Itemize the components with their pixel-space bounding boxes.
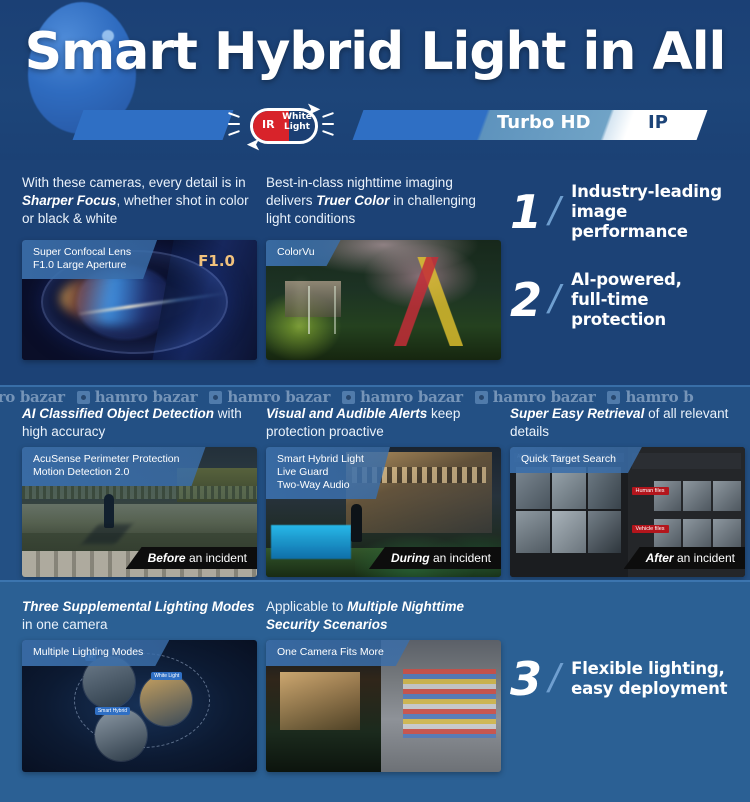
card-frame: Super Confocal Lens F1.0 Large Aperture …	[22, 240, 257, 360]
card-live-guard[interactable]: Smart Hybrid Light Live Guard Two-Way Au…	[266, 447, 498, 577]
point-label: Industry-leading image performance	[571, 182, 738, 242]
point-number: 3	[510, 658, 542, 700]
blurb-text: AI Classified Object Detection with high…	[22, 405, 257, 441]
mode-bubble-smart	[95, 709, 147, 761]
card-frame: IR White Light Smart Hybrid Multiple Lig…	[22, 640, 257, 772]
nvr-thumb	[588, 467, 622, 509]
badge-core: IR White Light	[250, 108, 318, 144]
caption-line-2: Live Guard	[277, 466, 364, 479]
card-super-confocal-lens[interactable]: Super Confocal Lens F1.0 Large Aperture …	[22, 240, 257, 360]
caption-line-1: ColorVu	[277, 246, 315, 259]
point-number: 2	[510, 279, 542, 321]
blurb-truer-color: Best-in-class nighttime imaging delivers…	[266, 174, 498, 228]
incident-stage-tag: Before an incident	[126, 547, 257, 569]
blurb-retrieval: Super Easy Retrieval of all relevant det…	[510, 405, 738, 441]
nvr-thumb	[588, 511, 622, 553]
blurb-lighting-modes: Three Supplemental Lighting Modes in one…	[22, 598, 257, 634]
card-frame: ColorVu	[266, 240, 501, 360]
card-frame: AcuSense Perimeter Protection Motion Det…	[22, 447, 257, 577]
caption-line-1: One Camera Fits More	[277, 646, 384, 659]
vehicle-results-strip	[654, 519, 742, 549]
tag-text: an incident	[674, 551, 735, 565]
point-label: AI-powered, full-time protection	[571, 270, 738, 330]
blurb-emphasis: Truer Color	[316, 193, 389, 208]
caption-line-1: AcuSense Perimeter Protection	[33, 453, 180, 466]
card-caption: One Camera Fits More	[266, 640, 410, 666]
section-flexible-lighting: Three Supplemental Lighting Modes in one…	[0, 580, 750, 802]
blurb-ai-detection: AI Classified Object Detection with high…	[22, 405, 257, 441]
blurb-emphasis: AI Classified Object Detection	[22, 406, 214, 421]
blurb-text: Super Easy Retrieval of all relevant det…	[510, 405, 738, 441]
blurb-emphasis: Super Easy Retrieval	[510, 406, 644, 421]
caption-line-2: Motion Detection 2.0	[33, 466, 180, 479]
point-row: 3 / Flexible lighting, easy deployment	[510, 658, 738, 700]
incident-stage-tag: After an incident	[624, 547, 745, 569]
caption-line-1: Smart Hybrid Light	[277, 453, 364, 466]
nvr-thumb	[516, 511, 550, 553]
caption-line-1: Multiple Lighting Modes	[33, 646, 143, 659]
tag-text: an incident	[430, 551, 491, 565]
tag-emphasis: After	[646, 551, 674, 565]
nvr-thumb	[552, 511, 586, 553]
blurb-part-1: Applicable to	[266, 599, 347, 614]
card-caption: Quick Target Search	[510, 447, 642, 473]
card-colorvu[interactable]: ColorVu	[266, 240, 498, 360]
point-1: 1 / Industry-leading image performance	[510, 182, 738, 242]
point-label-line-1: Flexible lighting,	[571, 659, 724, 678]
point-label-line-2: full-time protection	[571, 290, 666, 329]
divider	[0, 580, 750, 582]
blurb-text: Best-in-class nighttime imaging delivers…	[266, 174, 498, 228]
ir-white-light-badge: ➤ ➤ IR White Light	[228, 98, 340, 154]
blurb-text: Applicable to Multiple Nighttime Securit…	[266, 598, 498, 634]
blurb-emphasis: Visual and Audible Alerts	[266, 406, 427, 421]
mode-bubble-white	[140, 674, 192, 726]
page-title: Smart Hybrid Light in All	[0, 22, 750, 82]
caption-line-1: Quick Target Search	[521, 453, 616, 466]
hero-ribbon	[0, 107, 750, 145]
chip-smart-hybrid: Smart Hybrid	[95, 707, 130, 715]
filter-vehicle-tag: Vehicle files	[632, 525, 669, 533]
caption-line-3: Two-Way Audio	[277, 479, 364, 492]
card-quick-target-search[interactable]: All files mixed together Human files	[510, 447, 738, 577]
card-one-camera-fits-more[interactable]: One Camera Fits More	[266, 640, 498, 772]
slash-divider-icon: /	[545, 659, 565, 699]
point-label-line-1: AI-powered,	[571, 270, 682, 289]
card-acusense[interactable]: AcuSense Perimeter Protection Motion Det…	[22, 447, 257, 577]
card-multiple-lighting-modes[interactable]: IR White Light Smart Hybrid Multiple Lig…	[22, 640, 257, 772]
f-stop-overlay: F1.0	[198, 252, 235, 270]
nvr-toolbar	[632, 453, 742, 469]
section-ai-protection: AI Classified Object Detection with high…	[0, 385, 750, 580]
caption-line-1: Super Confocal Lens	[33, 246, 131, 259]
badge-turbo-hd: Turbo HD	[497, 112, 591, 133]
blurb-emphasis: Three Supplemental Lighting Modes	[22, 599, 255, 614]
blurb-text: Visual and Audible Alerts keep protectio…	[266, 405, 498, 441]
badge-ip: IP	[648, 112, 668, 133]
blurb-scenarios: Applicable to Multiple Nighttime Securit…	[266, 598, 498, 634]
card-caption: Multiple Lighting Modes	[22, 640, 169, 666]
chip-white-light: White Light	[151, 672, 182, 680]
incident-stage-tag: During an incident	[369, 547, 501, 569]
hero-banner: Smart Hybrid Light in All Turbo HD IP ➤ …	[0, 0, 750, 160]
blurb-emphasis: Sharper Focus	[22, 193, 117, 208]
card-caption: Super Confocal Lens F1.0 Large Aperture	[22, 240, 157, 279]
divider	[0, 385, 750, 387]
light-rays-right-icon	[322, 112, 340, 140]
blurb-part-1: With these cameras, every detail is in	[22, 175, 246, 190]
point-label-line-1: Industry-leading	[571, 182, 722, 201]
slash-divider-icon: /	[545, 192, 565, 232]
ir-label: IR	[262, 118, 275, 131]
point-3: 3 / Flexible lighting, easy deployment	[510, 658, 738, 700]
blurb-part-1: in one camera	[22, 617, 108, 632]
nvr-thumb	[516, 467, 550, 509]
white-light-label: White Light	[281, 112, 313, 132]
filter-human-tag: Human files	[632, 487, 669, 495]
tag-emphasis: During	[391, 551, 430, 565]
blurb-sharper-focus: With these cameras, every detail is in S…	[22, 174, 257, 228]
card-caption: AcuSense Perimeter Protection Motion Det…	[22, 447, 206, 486]
nvr-thumbnail-grid	[516, 467, 622, 553]
blurb-text: With these cameras, every detail is in S…	[22, 174, 257, 228]
point-number: 1	[510, 191, 542, 233]
infographic-page: Smart Hybrid Light in All Turbo HD IP ➤ …	[0, 0, 750, 802]
point-label-line-2: image performance	[571, 202, 688, 241]
card-caption: Smart Hybrid Light Live Guard Two-Way Au…	[266, 447, 390, 499]
card-frame: Smart Hybrid Light Live Guard Two-Way Au…	[266, 447, 501, 577]
slash-divider-icon: /	[545, 280, 565, 320]
tag-text: an incident	[186, 551, 247, 565]
white-label: White	[281, 112, 313, 122]
card-frame: All files mixed together Human files	[510, 447, 745, 577]
light-label: Light	[281, 122, 313, 132]
light-rays-left-icon	[228, 112, 246, 140]
ribbon-left-shape	[73, 110, 234, 140]
section-image-performance: With these cameras, every detail is in S…	[0, 160, 750, 385]
blurb-alerts: Visual and Audible Alerts keep protectio…	[266, 405, 498, 441]
blurb-text: Three Supplemental Lighting Modes in one…	[22, 598, 257, 634]
point-label-line-2: easy deployment	[571, 679, 727, 698]
point-row: 2 / AI-powered, full-time protection	[510, 270, 738, 330]
nvr-thumb	[552, 467, 586, 509]
point-row: 1 / Industry-leading image performance	[510, 182, 738, 242]
point-2: 2 / AI-powered, full-time protection	[510, 270, 738, 330]
tag-emphasis: Before	[148, 551, 186, 565]
caption-line-2: F1.0 Large Aperture	[33, 259, 131, 272]
card-frame: One Camera Fits More	[266, 640, 501, 772]
human-results-strip	[654, 481, 742, 511]
point-label: Flexible lighting, easy deployment	[571, 659, 727, 699]
